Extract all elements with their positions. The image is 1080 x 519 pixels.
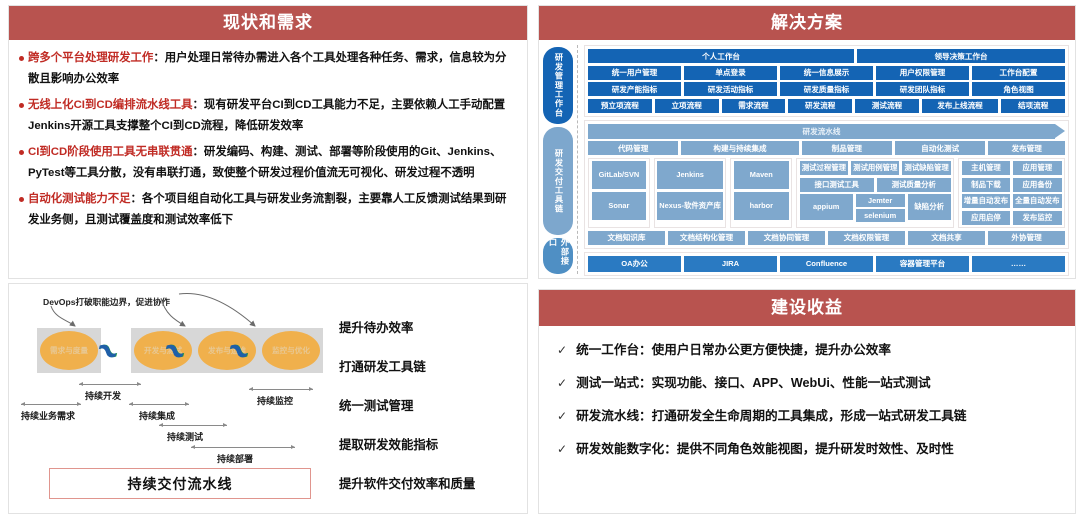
wb-cell-workbench-config[interactable]: 工作台配置 xyxy=(972,66,1065,80)
bullet-dot-icon xyxy=(19,103,24,108)
layer-tab-management-workbench[interactable]: 研发管理工作台 xyxy=(543,47,573,124)
toolchain-group: 研发流水线 代码管理 构建与持续集成 制品管理 自动化测试 发布管理 GitLa… xyxy=(584,120,1069,249)
span-label-continuous-dev: 持续开发 xyxy=(85,389,121,402)
current-status-title: 现状和需求 xyxy=(9,6,527,40)
doc-sharing[interactable]: 文档共享 xyxy=(908,231,985,245)
benefit-item-3-text: 研发流水线：打通研发全生命周期的工具集成，形成一站式研发工具链 xyxy=(576,408,966,425)
benefit-item-4-text: 研发效能数字化：提供不同角色效能视图，提升研发时效性、及时性 xyxy=(576,441,954,458)
check-icon: ✓ xyxy=(557,342,567,359)
status-bullet-3-text: CI到CD阶段使用工具无串联贯通：研发编码、构建、测试、部署等阶段使用的Git、… xyxy=(28,142,513,184)
tool-defect-analysis[interactable]: 缺陷分析 xyxy=(908,194,951,220)
tool-nexus[interactable]: Nexus-软件资产库 xyxy=(657,192,723,220)
tool-full-release[interactable]: 全量自动发布 xyxy=(1013,194,1061,208)
ext-oa[interactable]: OA办公 xyxy=(588,256,681,272)
check-icon: ✓ xyxy=(557,441,567,458)
span-line-continuous-biz xyxy=(21,404,81,405)
deploy-row-2: 制品下载 应用备份 xyxy=(962,178,1062,192)
tool-api-test[interactable]: 接口测试工具 xyxy=(800,178,874,192)
tool-artifact-download[interactable]: 制品下载 xyxy=(962,178,1010,192)
wb-cell-release-flow[interactable]: 发布上线流程 xyxy=(922,99,999,113)
wb-cell-test-flow[interactable]: 测试流程 xyxy=(855,99,919,113)
bullet-dot-icon xyxy=(19,56,24,61)
bullet-dot-icon xyxy=(19,197,24,202)
benefit-item-2: ✓ 测试一站式：实现功能、接口、APP、WebUi、性能一站式测试 xyxy=(557,375,1057,392)
workbench-group: 个人工作台 领导决策工作台 统一用户管理 单点登录 统一信息展示 用户权限管理 … xyxy=(584,45,1069,117)
status-bullet-2-lead: 无线上化CI到CD编排流水线工具 xyxy=(28,99,193,111)
ext-container-platform[interactable]: 容器管理平台 xyxy=(876,256,969,272)
wb-cell-closing-flow[interactable]: 结项流程 xyxy=(1001,99,1065,113)
ext-jira[interactable]: JIRA xyxy=(684,256,777,272)
wb-cell-activity-metric[interactable]: 研发活动指标 xyxy=(684,82,777,96)
doc-permission-mgmt[interactable]: 文档权限管理 xyxy=(828,231,905,245)
tool-columns: GitLab/SVN Sonar Jenkins Nexus-软件资产库 Mav… xyxy=(588,158,1065,229)
tool-sonar[interactable]: Sonar xyxy=(592,192,647,220)
gain-item-2: 打通研发工具链 xyxy=(339,357,426,375)
workbench-row-2: 统一用户管理 单点登录 统一信息展示 用户权限管理 工作台配置 xyxy=(588,66,1065,80)
wb-cell-quality-metric[interactable]: 研发质量指标 xyxy=(780,82,873,96)
pipe-stage-release-mgmt[interactable]: 发布管理 xyxy=(988,141,1065,155)
tool-test-quality-analysis[interactable]: 测试质量分析 xyxy=(877,178,951,192)
external-row: OA办公 JIRA Confluence 容器管理平台 …… xyxy=(588,256,1065,272)
status-bullet-3: CI到CD阶段使用工具无串联贯通：研发编码、构建、测试、部署等阶段使用的Git、… xyxy=(19,142,513,184)
status-bullet-4: 自动化测试能力不足：各个项目组自动化工具与研发业务流割裂，主要靠人工反馈测试结果… xyxy=(19,189,513,231)
layer-tab-external-interface[interactable]: 外部接口 xyxy=(543,238,573,274)
continuous-delivery-pipeline-box: 持续交付流水线 xyxy=(49,468,311,499)
span-line-continuous-integration xyxy=(129,404,189,405)
solution-panel: 解决方案 研发管理工作台 研发交付工具链 外部接口 个人工作台 领导决策工作台 xyxy=(538,5,1076,279)
tool-app-mgmt[interactable]: 应用管理 xyxy=(1013,161,1061,175)
benefit-item-4: ✓ 研发效能数字化：提供不同角色效能视图，提升研发时效性、及时性 xyxy=(557,441,1057,458)
status-bullet-4-text: 自动化测试能力不足：各个项目组自动化工具与研发业务流割裂，主要靠人工反馈测试结果… xyxy=(28,189,513,231)
ext-confluence[interactable]: Confluence xyxy=(780,256,873,272)
status-bullet-2: 无线上化CI到CD编排流水线工具：现有研发平台CI到CD工具能力不足，主要依赖人… xyxy=(19,95,513,137)
tool-maven[interactable]: Maven xyxy=(734,161,789,189)
tool-host-mgmt[interactable]: 主机管理 xyxy=(962,161,1010,175)
wb-cell-capacity-metric[interactable]: 研发产能指标 xyxy=(588,82,681,96)
pipeline-stage-row: 代码管理 构建与持续集成 制品管理 自动化测试 发布管理 xyxy=(588,141,1065,155)
benefit-panel: 建设收益 ✓ 统一工作台：使用户日常办公更方便快捷，提升办公效率 ✓ 测试一站式… xyxy=(538,289,1076,514)
doc-outsourcing-mgmt[interactable]: 外协管理 xyxy=(988,231,1065,245)
tool-subgroup-jmeter-selenium: Jemter selenium xyxy=(856,194,905,225)
check-icon: ✓ xyxy=(557,375,567,392)
benefit-item-2-text: 测试一站式：实现功能、接口、APP、WebUi、性能一站式测试 xyxy=(576,375,931,392)
wb-cell-unified-user-mgmt[interactable]: 统一用户管理 xyxy=(588,66,681,80)
deploy-row-4: 应用启停 发布监控 xyxy=(962,211,1062,225)
benefit-body: ✓ 统一工作台：使用户日常办公更方便快捷，提升办公效率 ✓ 测试一站式：实现功能… xyxy=(539,326,1075,458)
devops-stage-4-label: 监控与优化 xyxy=(272,345,310,356)
status-bullet-4-lead: 自动化测试能力不足 xyxy=(28,193,131,205)
wb-cell-rd-flow[interactable]: 研发流程 xyxy=(788,99,852,113)
tool-jenkins[interactable]: Jenkins xyxy=(657,161,723,189)
wb-cell-unified-info-display[interactable]: 统一信息展示 xyxy=(780,66,873,80)
devops-cycle-icon xyxy=(97,340,119,362)
tool-jmeter[interactable]: Jemter xyxy=(856,194,905,207)
benefit-item-1-text: 统一工作台：使用户日常办公更方便快捷，提升办公效率 xyxy=(576,342,891,359)
span-label-continuous-deploy: 持续部署 xyxy=(217,452,253,465)
tool-app-backup[interactable]: 应用备份 xyxy=(1013,178,1061,192)
tool-column-build: Jenkins Nexus-软件资产库 xyxy=(654,158,727,229)
solution-body: 研发管理工作台 研发交付工具链 外部接口 个人工作台 领导决策工作台 统一用户管… xyxy=(539,40,1075,278)
status-bullet-1-text: 跨多个平台处理研发工作：用户处理日常待办需进入各个工具处理各种任务、需求，信息较… xyxy=(28,48,513,90)
doc-collaboration-mgmt[interactable]: 文档协同管理 xyxy=(748,231,825,245)
wb-cell-leader-workbench[interactable]: 领导决策工作台 xyxy=(857,49,1065,63)
devops-stage-4: 监控与优化 xyxy=(259,328,323,373)
gain-item-1: 提升待办效率 xyxy=(339,318,413,336)
devops-diagram-body: DevOps打破职能边界，促进协作 需求与度量 开发与测试 发布与运维 监控与优… xyxy=(9,284,527,513)
tool-incremental-release[interactable]: 增量自动发布 xyxy=(962,194,1010,208)
deploy-row-3: 增量自动发布 全量自动发布 xyxy=(962,194,1062,208)
external-group: OA办公 JIRA Confluence 容器管理平台 …… xyxy=(584,252,1069,276)
status-bullet-3-lead: CI到CD阶段使用工具无串联贯通 xyxy=(28,146,193,158)
pipe-stage-code-mgmt[interactable]: 代码管理 xyxy=(588,141,678,155)
benefit-item-3: ✓ 研发流水线：打通研发全生命周期的工具集成，形成一站式研发工具链 xyxy=(557,408,1057,425)
tool-column-artifact: Maven harbor xyxy=(730,158,792,229)
span-line-continuous-test xyxy=(159,425,227,426)
wb-cell-sso[interactable]: 单点登录 xyxy=(684,66,777,80)
span-label-continuous-test: 持续测试 xyxy=(167,430,203,443)
span-line-continuous-monitor xyxy=(249,389,313,390)
test-row-3: appium Jemter selenium 缺陷分析 xyxy=(800,194,951,225)
tool-selenium[interactable]: selenium xyxy=(856,209,905,222)
wb-cell-pre-project-flow[interactable]: 预立项流程 xyxy=(588,99,652,113)
devops-stage-1-label: 需求与度量 xyxy=(50,345,88,356)
tool-test-process-mgmt[interactable]: 测试过程管理 xyxy=(800,161,848,175)
devops-diagram-panel: DevOps打破职能边界，促进协作 需求与度量 开发与测试 发布与运维 监控与优… xyxy=(8,283,528,514)
workbench-row-1: 个人工作台 领导决策工作台 xyxy=(588,49,1065,63)
wb-cell-requirement-flow[interactable]: 需求流程 xyxy=(722,99,786,113)
current-status-panel: 现状和需求 跨多个平台处理研发工作：用户处理日常待办需进入各个工具处理各种任务、… xyxy=(8,5,528,279)
devops-stage-1-oval: 需求与度量 xyxy=(40,331,98,370)
status-bullet-1-lead: 跨多个平台处理研发工作 xyxy=(28,52,153,64)
layer-tab-delivery-toolchain[interactable]: 研发交付工具链 xyxy=(543,127,573,236)
span-line-continuous-deploy xyxy=(191,447,295,448)
devops-stage-4-oval: 监控与优化 xyxy=(262,331,320,370)
pipe-stage-auto-test[interactable]: 自动化测试 xyxy=(895,141,985,155)
span-label-continuous-monitor: 持续监控 xyxy=(257,394,293,407)
wb-cell-user-permission-mgmt[interactable]: 用户权限管理 xyxy=(876,66,969,80)
tool-release-monitor[interactable]: 发布监控 xyxy=(1013,211,1061,225)
pipeline-banner: 研发流水线 xyxy=(588,124,1055,139)
tool-column-deploy: 主机管理 应用管理 制品下载 应用备份 增量自动发布 全量自动发布 xyxy=(958,158,1065,229)
benefit-title: 建设收益 xyxy=(539,290,1075,326)
tool-appium[interactable]: appium xyxy=(800,194,853,220)
tool-app-start-stop[interactable]: 应用启停 xyxy=(962,211,1010,225)
devops-cycle-icon xyxy=(228,340,250,362)
devops-cycle-icon xyxy=(164,340,186,362)
devops-stage-1: 需求与度量 xyxy=(37,328,101,373)
wb-cell-role-view[interactable]: 角色视图 xyxy=(972,82,1065,96)
tool-column-test: 测试过程管理 测试用例管理 测试缺陷管理 接口测试工具 测试质量分析 appiu… xyxy=(796,158,954,229)
tool-gitlab-svn[interactable]: GitLab/SVN xyxy=(592,161,647,189)
slide-canvas: 现状和需求 跨多个平台处理研发工作：用户处理日常待办需进入各个工具处理各种任务、… xyxy=(0,0,1080,519)
status-bullet-2-text: 无线上化CI到CD编排流水线工具：现有研发平台CI到CD工具能力不足，主要依赖人… xyxy=(28,95,513,137)
tool-harbor[interactable]: harbor xyxy=(734,192,789,220)
tool-test-defect-mgmt[interactable]: 测试缺陷管理 xyxy=(902,161,950,175)
continuous-delivery-pipeline-label: 持续交付流水线 xyxy=(128,474,233,494)
span-label-continuous-biz: 持续业务需求 xyxy=(21,409,75,422)
bullet-dot-icon xyxy=(19,150,24,155)
workbench-row-4: 预立项流程 立项流程 需求流程 研发流程 测试流程 发布上线流程 结项流程 xyxy=(588,99,1065,113)
span-line-continuous-dev xyxy=(79,384,141,385)
solution-title: 解决方案 xyxy=(539,6,1075,40)
check-icon: ✓ xyxy=(557,408,567,425)
solution-layers: 个人工作台 领导决策工作台 统一用户管理 单点登录 统一信息展示 用户权限管理 … xyxy=(577,45,1069,274)
current-status-body: 跨多个平台处理研发工作：用户处理日常待办需进入各个工具处理各种任务、需求，信息较… xyxy=(9,40,527,231)
tool-column-scm: GitLab/SVN Sonar xyxy=(588,158,650,229)
doc-structured-mgmt[interactable]: 文档结构化管理 xyxy=(668,231,745,245)
doc-knowledge-base[interactable]: 文档知识库 xyxy=(588,231,665,245)
gain-item-4: 提取研发效能指标 xyxy=(339,435,438,453)
ext-more[interactable]: …… xyxy=(972,256,1065,272)
test-row-1: 测试过程管理 测试用例管理 测试缺陷管理 xyxy=(800,161,951,175)
gain-item-3: 统一测试管理 xyxy=(339,396,413,414)
deploy-row-1: 主机管理 应用管理 xyxy=(962,161,1062,175)
status-bullet-1: 跨多个平台处理研发工作：用户处理日常待办需进入各个工具处理各种任务、需求，信息较… xyxy=(19,48,513,90)
wb-cell-project-flow[interactable]: 立项流程 xyxy=(655,99,719,113)
pipe-stage-artifact-mgmt[interactable]: 制品管理 xyxy=(802,141,892,155)
solution-layer-tabs: 研发管理工作台 研发交付工具链 外部接口 xyxy=(543,45,573,274)
workbench-row-3: 研发产能指标 研发活动指标 研发质量指标 研发团队指标 角色视图 xyxy=(588,82,1065,96)
span-label-continuous-integration: 持续集成 xyxy=(139,409,175,422)
pipe-stage-build-ci[interactable]: 构建与持续集成 xyxy=(681,141,798,155)
wb-cell-personal-workbench[interactable]: 个人工作台 xyxy=(588,49,854,63)
benefit-item-1: ✓ 统一工作台：使用户日常办公更方便快捷，提升办公效率 xyxy=(557,342,1057,359)
gain-item-5: 提升软件交付效率和质量 xyxy=(339,474,475,492)
wb-cell-team-metric[interactable]: 研发团队指标 xyxy=(876,82,969,96)
tool-test-case-mgmt[interactable]: 测试用例管理 xyxy=(851,161,899,175)
test-row-2: 接口测试工具 测试质量分析 xyxy=(800,178,951,192)
document-row: 文档知识库 文档结构化管理 文档协同管理 文档权限管理 文档共享 外协管理 xyxy=(588,231,1065,245)
